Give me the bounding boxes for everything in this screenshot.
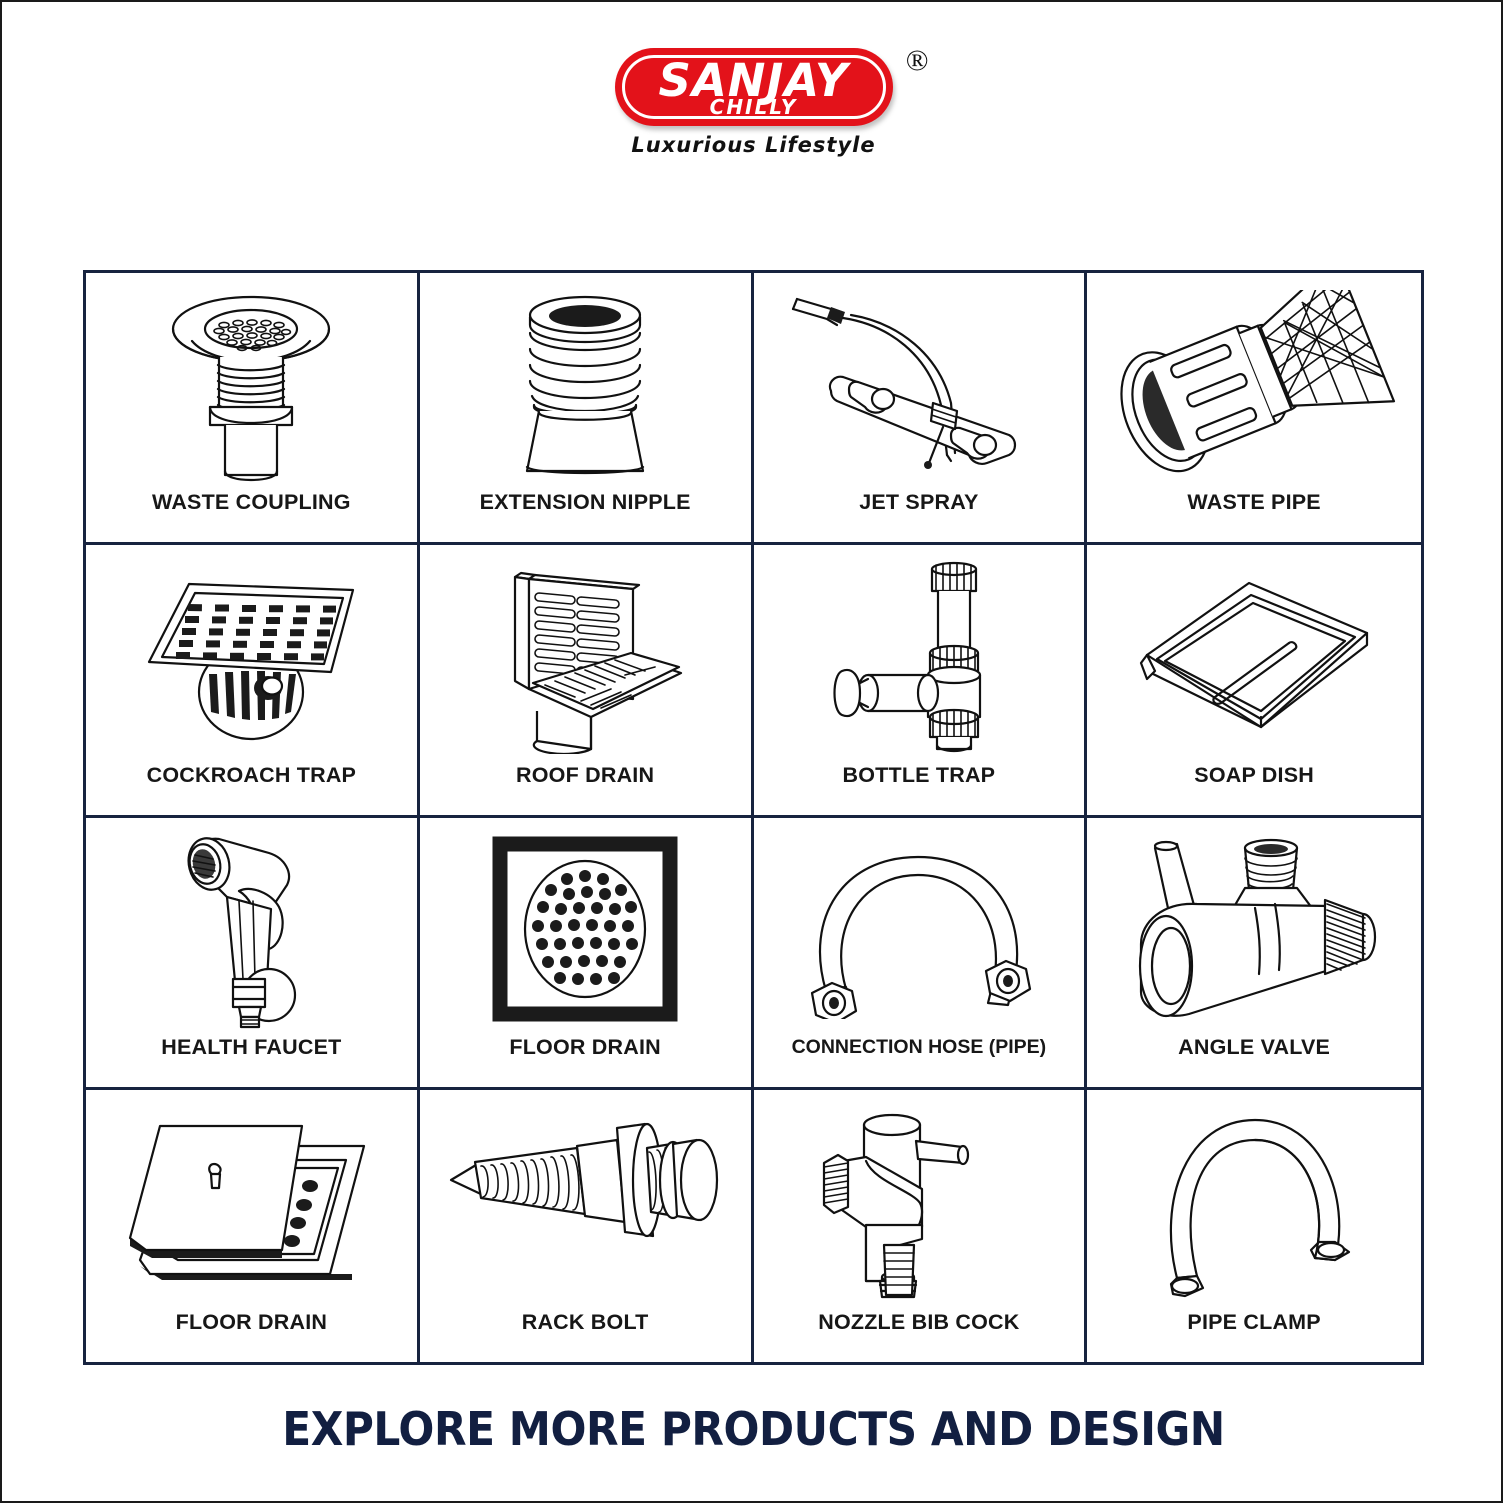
product-label: EXTENSION NIPPLE [420, 490, 751, 542]
product-cell-roof-drain[interactable]: ROOF DRAIN [420, 545, 754, 817]
product-label: WASTE COUPLING [86, 490, 417, 542]
logo-badge: ® SANJAY CHILLY [615, 48, 893, 126]
waste-coupling-icon [86, 273, 417, 490]
health-faucet-icon [86, 818, 417, 1035]
product-cell-nozzle-bib-cock[interactable]: NOZZLE BIB COCK [754, 1090, 1088, 1362]
product-cell-jet-spray[interactable]: JET SPRAY [754, 273, 1088, 545]
floor-drain-round-icon [420, 818, 751, 1035]
extension-nipple-icon [420, 273, 751, 490]
product-label: HEALTH FAUCET [86, 1035, 417, 1087]
jet-spray-icon [754, 273, 1085, 490]
footer-headline: EXPLORE MORE PRODUCTS AND DESIGN [62, 1402, 1445, 1456]
product-label: PIPE CLAMP [1087, 1310, 1421, 1362]
product-label: JET SPRAY [754, 490, 1085, 542]
floor-drain-square-icon [86, 1090, 417, 1310]
product-cell-soap-dish[interactable]: SOAP DISH [1087, 545, 1421, 817]
product-label: FLOOR DRAIN [86, 1310, 417, 1362]
registered-trademark-icon: ® [906, 44, 929, 78]
cockroach-trap-icon [86, 545, 417, 762]
product-label: WASTE PIPE [1087, 490, 1421, 542]
product-label: COCKROACH TRAP [86, 763, 417, 815]
product-cell-connection-hose[interactable]: CONNECTION HOSE (PIPE) [754, 818, 1088, 1090]
brand-logo: ® SANJAY CHILLY Luxurious Lifestyle [2, 48, 1503, 157]
product-cell-waste-coupling[interactable]: WASTE COUPLING [86, 273, 420, 545]
product-label: ANGLE VALVE [1087, 1035, 1421, 1087]
product-cell-waste-pipe[interactable]: WASTE PIPE [1087, 273, 1421, 545]
product-cell-extension-nipple[interactable]: EXTENSION NIPPLE [420, 273, 754, 545]
product-cell-floor-drain-square[interactable]: FLOOR DRAIN [86, 1090, 420, 1362]
catalog-page: ® SANJAY CHILLY Luxurious Lifestyle [0, 0, 1503, 1503]
product-grid: WASTE COUPLING [83, 270, 1424, 1365]
nozzle-bib-cock-icon [754, 1090, 1085, 1310]
connection-hose-icon [754, 818, 1085, 1035]
waste-pipe-icon [1087, 273, 1421, 490]
soap-dish-icon [1087, 545, 1421, 762]
product-label: FLOOR DRAIN [420, 1035, 751, 1087]
product-label: NOZZLE BIB COCK [754, 1310, 1085, 1362]
product-cell-angle-valve[interactable]: ANGLE VALVE [1087, 818, 1421, 1090]
product-cell-floor-drain-round[interactable]: FLOOR DRAIN [420, 818, 754, 1090]
angle-valve-icon [1087, 818, 1421, 1035]
product-cell-rack-bolt[interactable]: RACK BOLT [420, 1090, 754, 1362]
product-label: SOAP DISH [1087, 763, 1421, 815]
product-cell-pipe-clamp[interactable]: PIPE CLAMP [1087, 1090, 1421, 1362]
product-cell-cockroach-trap[interactable]: COCKROACH TRAP [86, 545, 420, 817]
product-label: CONNECTION HOSE (PIPE) [754, 1035, 1085, 1087]
product-label: ROOF DRAIN [420, 763, 751, 815]
product-cell-health-faucet[interactable]: HEALTH FAUCET [86, 818, 420, 1090]
rack-bolt-icon [420, 1090, 751, 1310]
bottle-trap-icon [754, 545, 1085, 762]
product-label: BOTTLE TRAP [754, 763, 1085, 815]
product-cell-bottle-trap[interactable]: BOTTLE TRAP [754, 545, 1088, 817]
pipe-clamp-icon [1087, 1090, 1421, 1310]
product-label: RACK BOLT [420, 1310, 751, 1362]
logo-tagline: Luxurious Lifestyle [631, 133, 875, 157]
logo-brand-sub: CHILLY [710, 97, 798, 117]
roof-drain-icon [420, 545, 751, 762]
